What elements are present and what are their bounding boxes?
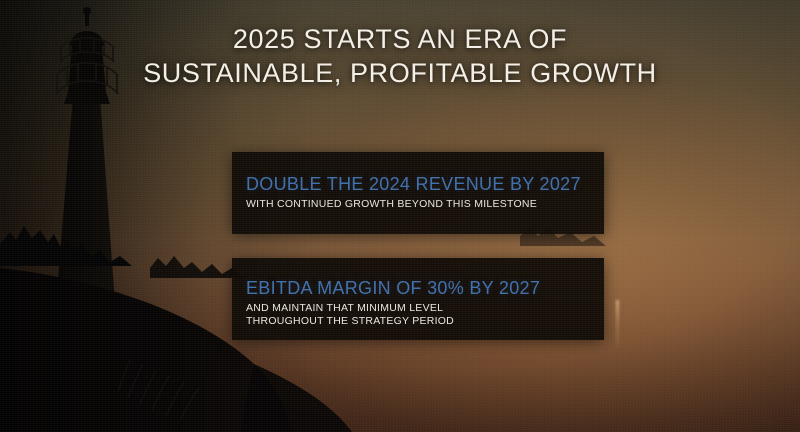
photo-grain-overlay <box>0 0 800 432</box>
presentation-slide: 2025 STARTS AN ERA OF SUSTAINABLE, PROFI… <box>0 0 800 432</box>
